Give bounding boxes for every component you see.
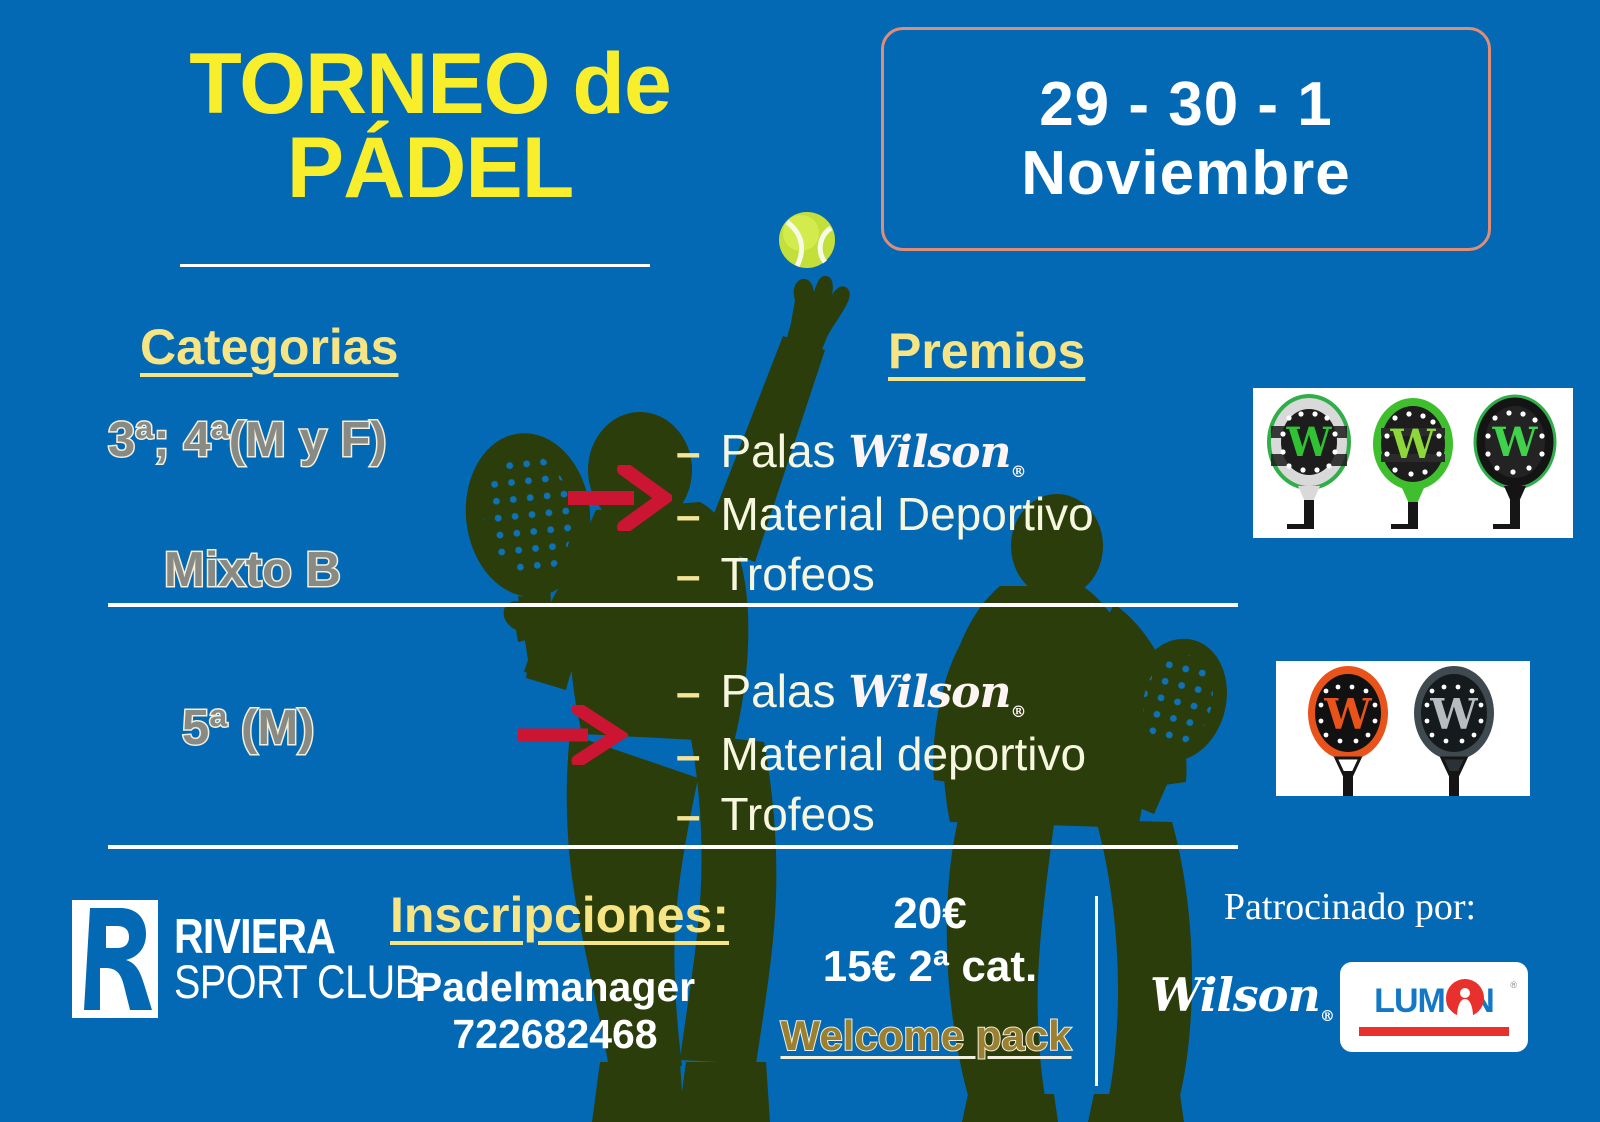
- svg-text:W: W: [1286, 419, 1333, 466]
- lumon-wordmark: LUMON: [1353, 982, 1515, 1021]
- svg-text:W: W: [1429, 690, 1478, 739]
- prize-text: Palas Wilson®: [720, 664, 1025, 721]
- red-arrow-icon-top: [568, 465, 672, 531]
- prizes-group-b: – Palas Wilson® – Material deportivo – T…: [676, 664, 1086, 847]
- lumon-red-bar: [1359, 1027, 1509, 1036]
- categories-heading: Categorias: [140, 318, 398, 376]
- date-line-2: Noviembre: [1021, 139, 1350, 208]
- prize-row: – Material Deportivo: [676, 487, 1094, 541]
- registration-phone: 722682468: [390, 1011, 720, 1058]
- svg-text:W: W: [1323, 690, 1372, 739]
- sport-club-name: SPORT CLUB: [174, 960, 421, 1003]
- dash-bullet: –: [676, 431, 700, 475]
- tennis-ball-icon: [775, 208, 839, 272]
- prize-row: – Material deportivo: [676, 727, 1086, 781]
- prize-row: – Palas Wilson®: [676, 664, 1086, 721]
- riviera-name: RIVIERA: [174, 915, 421, 960]
- poster-canvas: TORNEO de PÁDEL 29 - 30 - 1 Noviembre Ca…: [0, 0, 1600, 1122]
- section-divider-1: [108, 603, 1238, 607]
- category-item-1: 3ª; 4ª(M y F): [108, 412, 387, 468]
- price-main: 20€: [760, 888, 1100, 941]
- prize-prefix: Palas: [720, 425, 848, 477]
- wilson-wordmark: Wilson®: [848, 427, 1025, 478]
- section-divider-2: [108, 845, 1238, 849]
- registration-details: Padelmanager 722682468: [390, 964, 720, 1058]
- rackets-photo-top: W W: [1253, 388, 1573, 538]
- registered-mark: ®: [1510, 980, 1517, 990]
- wilson-wordmark: Wilson®: [848, 667, 1025, 718]
- registered-mark: ®: [1011, 462, 1026, 481]
- title-line-1: TORNEO de: [100, 42, 760, 126]
- prize-row: – Trofeos: [676, 547, 1094, 601]
- wilson-text: Wilson: [848, 667, 1010, 718]
- price-second-category: 15€ 2ª cat.: [760, 941, 1100, 994]
- prize-text: Trofeos: [720, 547, 874, 601]
- prize-text: Trofeos: [720, 787, 874, 841]
- prize-text: Palas Wilson®: [720, 424, 1025, 481]
- wilson-sponsor-text: Wilson: [1150, 968, 1320, 1022]
- prize-prefix: Palas: [720, 665, 848, 717]
- registration-heading: Inscripciones:: [390, 886, 729, 944]
- rackets-photo-bottom: W W: [1276, 661, 1530, 796]
- title-line-2: PÁDEL: [100, 126, 760, 210]
- riviera-r-mark: [72, 900, 158, 1018]
- date-line-1: 29 - 30 - 1: [1039, 70, 1333, 139]
- registered-mark: ®: [1320, 1007, 1334, 1025]
- dash-bullet: –: [676, 794, 700, 838]
- prize-text: Material deportivo: [720, 727, 1086, 781]
- page-title: TORNEO de PÁDEL: [100, 42, 760, 211]
- dash-bullet: –: [676, 734, 700, 778]
- welcome-pack-label: Welcome pack: [766, 1012, 1086, 1060]
- date-box: 29 - 30 - 1 Noviembre: [881, 27, 1491, 251]
- dash-bullet: –: [676, 494, 700, 538]
- pricing-block: 20€ 15€ 2ª cat.: [760, 888, 1100, 994]
- dash-bullet: –: [676, 671, 700, 715]
- prizes-heading: Premios: [888, 322, 1085, 380]
- svg-text:W: W: [1390, 421, 1437, 468]
- prize-row: – Palas Wilson®: [676, 424, 1094, 481]
- lumon-sponsor-logo: LUMON ®: [1340, 962, 1528, 1052]
- svg-text:W: W: [1492, 419, 1539, 466]
- registered-mark: ®: [1011, 702, 1026, 721]
- lumon-red-circle-icon: [1445, 978, 1485, 1022]
- prize-text: Material Deportivo: [720, 487, 1093, 541]
- prizes-group-a: – Palas Wilson® – Material Deportivo – T…: [676, 424, 1094, 607]
- title-divider: [180, 264, 650, 267]
- category-item-3: 5ª (M): [182, 700, 314, 756]
- category-item-2: Mixto B: [164, 542, 341, 598]
- wilson-text: Wilson: [848, 427, 1010, 478]
- sponsors-heading: Patrocinado por:: [1150, 885, 1550, 929]
- wilson-sponsor-logo: Wilson®: [1150, 968, 1330, 1025]
- dash-bullet: –: [676, 554, 700, 598]
- registration-platform: Padelmanager: [390, 964, 720, 1011]
- red-arrow-icon-bottom: [518, 705, 628, 765]
- prize-row: – Trofeos: [676, 787, 1086, 841]
